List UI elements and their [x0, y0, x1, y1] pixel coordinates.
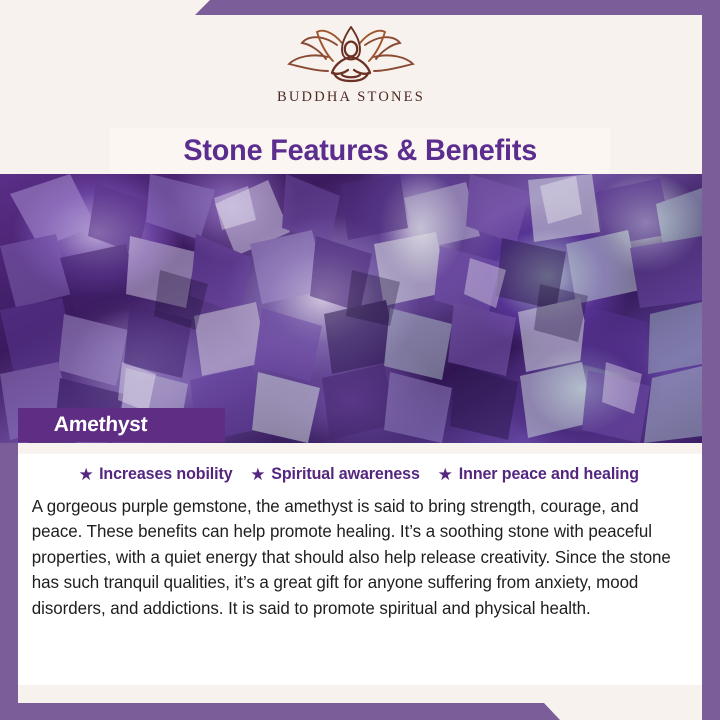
- frame-bottom-accent: [0, 703, 560, 720]
- page-title-panel: Stone Features & Benefits: [110, 128, 610, 174]
- benefit-item: ★ Spiritual awareness: [250, 465, 421, 484]
- benefit-label: Increases nobility: [99, 465, 232, 484]
- brand-name: BUDDHA STONES: [277, 89, 425, 106]
- benefits-list: ★ Increases nobility ★ Spiritual awarene…: [18, 454, 702, 484]
- frame-right-accent: [702, 0, 720, 720]
- benefit-label: Spiritual awareness: [271, 465, 420, 484]
- benefit-label: Inner peace and healing: [459, 465, 639, 484]
- lotus-meditation-icon: [276, 23, 426, 85]
- benefit-item: ★ Increases nobility: [78, 465, 234, 484]
- stone-description: A gorgeous purple gemstone, the amethyst…: [18, 484, 692, 621]
- stone-name-banner: Amethyst: [18, 408, 225, 442]
- product-feature-card: BUDDHA STONES Stone Features & Benefits: [0, 0, 720, 720]
- crystal-facets-overlay: [0, 174, 702, 443]
- star-icon: ★: [438, 466, 453, 483]
- star-icon: ★: [78, 466, 93, 483]
- page-title: Stone Features & Benefits: [183, 134, 537, 168]
- card-top-strip: [18, 443, 702, 454]
- brand-logo: BUDDHA STONES: [0, 23, 702, 106]
- content-card: ★ Increases nobility ★ Spiritual awarene…: [18, 443, 702, 685]
- frame-left-accent: [0, 443, 18, 720]
- benefit-item: ★ Inner peace and healing: [438, 465, 642, 484]
- header: BUDDHA STONES Stone Features & Benefits: [0, 15, 702, 174]
- amethyst-photo: [0, 174, 702, 443]
- frame-top-accent: [195, 0, 720, 15]
- hero-image: Amethyst: [0, 174, 702, 443]
- star-icon: ★: [250, 466, 265, 483]
- stone-name: Amethyst: [53, 413, 148, 437]
